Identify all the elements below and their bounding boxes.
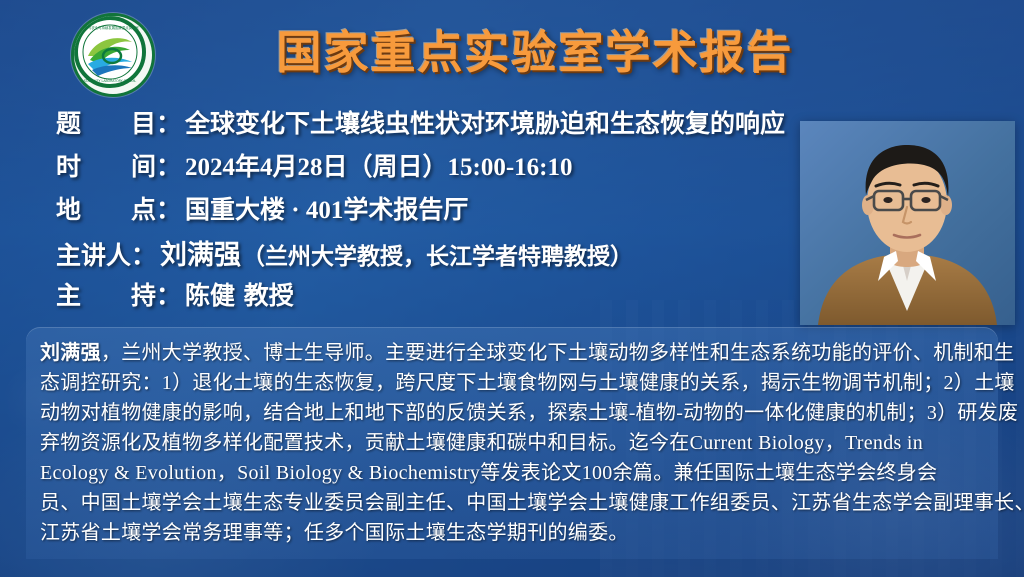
time-value: 2024年4月28日（周日）15:00-16:10 (185, 147, 572, 183)
bio-line: 刘满强，兰州大学教授、博士生导师。主要进行全球变化下土壤动物多样性和生态系统功能… (40, 337, 984, 368)
seminar-poster: 土壤与农业可持续发展国家重点实验室 STATE KEY LABORATORY O… (0, 0, 1024, 577)
poster-header: 土壤与农业可持续发展国家重点实验室 STATE KEY LABORATORY O… (0, 0, 1024, 98)
speaker-bio-panel: 刘满强，兰州大学教授、博士生导师。主要进行全球变化下土壤动物多样性和生态系统功能… (26, 327, 998, 559)
info-row-location: 地 点： 国重大楼 · 401学术报告厅 (56, 190, 856, 233)
poster-title: 国家重点实验室学术报告 (0, 16, 1024, 81)
speaker-label: 主讲人： (56, 236, 156, 272)
bio-line: Ecology & Evolution，Soil Biology & Bioch… (40, 458, 984, 488)
bio-line: 员、中国土壤学会土壤生态专业委员会副主任、中国土壤学会土壤健康工作组委员、江苏省… (40, 488, 984, 518)
bio-line: 动物对植物健康的影响，结合地上和地下部的反馈关系，探索土壤-植物-动物的一体化健… (40, 398, 984, 428)
speaker-portrait (800, 121, 1015, 325)
host-label: 主 持： (56, 276, 181, 312)
time-label: 时 间： (56, 147, 181, 183)
info-row-speaker: 主讲人： 刘满强 （兰州大学教授，长江学者特聘教授） (56, 233, 856, 276)
info-row-time: 时 间： 2024年4月28日（周日）15:00-16:10 (56, 147, 856, 190)
speaker-affiliation: （兰州大学教授，长江学者特聘教授） (242, 237, 633, 271)
bio-line-rest: ，兰州大学教授、博士生导师。主要进行全球变化下土壤动物多样性和生态系统功能的评价… (101, 342, 1015, 364)
topic-label: 题 目： (56, 104, 181, 140)
info-row-topic: 题 目： 全球变化下土壤线虫性状对环境胁迫和生态恢复的响应 (56, 104, 856, 147)
info-row-host: 主 持： 陈健 教授 (56, 276, 856, 319)
info-block: 题 目： 全球变化下土壤线虫性状对环境胁迫和生态恢复的响应 时 间： 2024年… (56, 104, 856, 319)
bio-line: 弃物资源化及植物多样化配置技术，贡献土壤健康和碳中和目标。迄今在Current … (40, 428, 984, 458)
speaker-name: 刘满强 (160, 233, 241, 272)
location-value: 国重大楼 · 401学术报告厅 (185, 190, 468, 226)
bio-line: 江苏省土壤学会常务理事等；任多个国际土壤生态学期刊的编委。 (40, 518, 984, 548)
bio-speaker-name: 刘满强 (40, 340, 101, 364)
location-label: 地 点： (56, 190, 181, 226)
host-value: 陈健 教授 (185, 276, 294, 312)
bio-line: 态调控研究：1）退化土壤的生态恢复，跨尺度下土壤食物网与土壤健康的关系，揭示生物… (40, 368, 984, 398)
topic-value: 全球变化下土壤线虫性状对环境胁迫和生态恢复的响应 (185, 104, 785, 140)
